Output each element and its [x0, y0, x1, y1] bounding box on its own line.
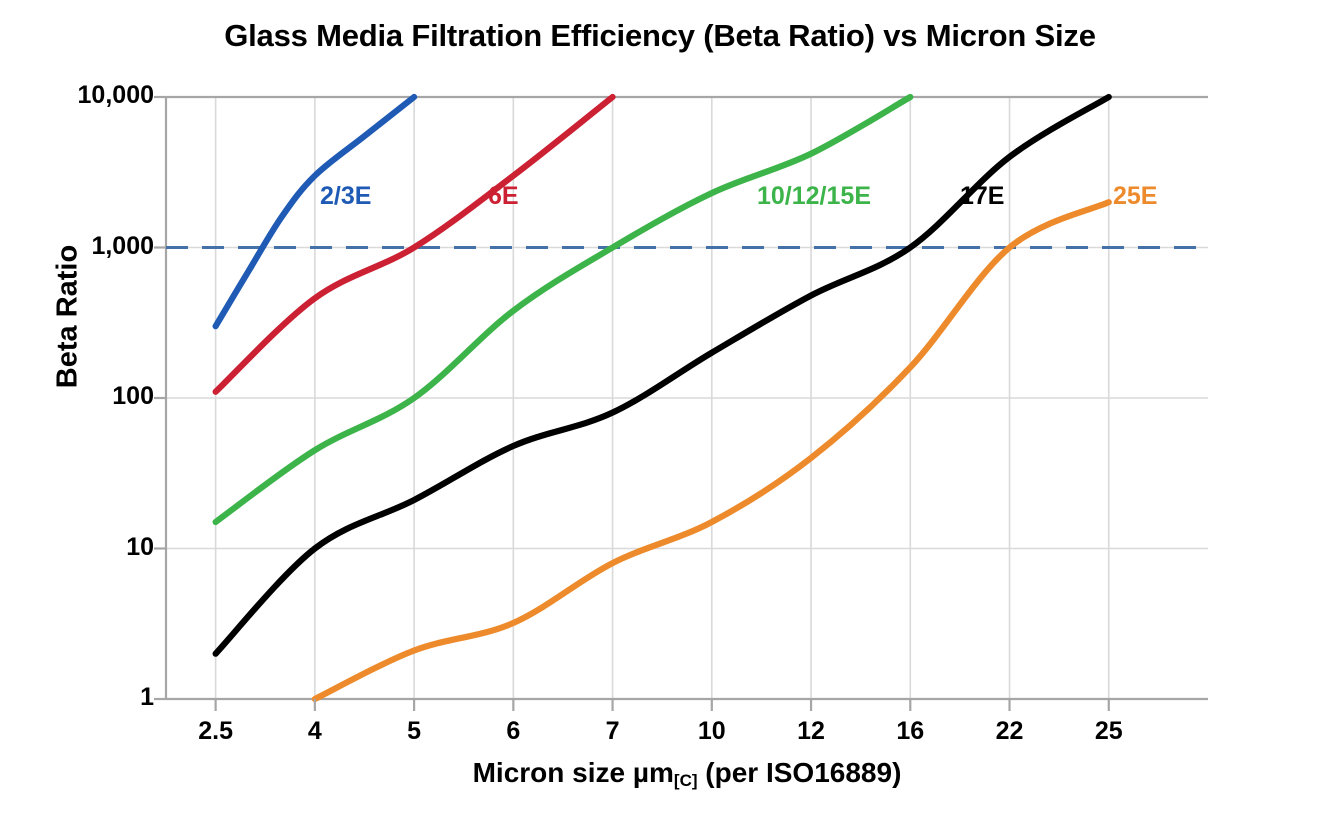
y-tick-label: 10,000	[14, 81, 154, 110]
chart-title: Glass Media Filtration Efficiency (Beta …	[0, 18, 1320, 54]
y-tick-label: 100	[14, 382, 154, 411]
x-tick-label: 2.5	[161, 717, 271, 746]
y-tick-label: 1	[14, 683, 154, 712]
x-axis-label-prefix: Micron size µm	[473, 757, 674, 788]
series-annotation-25E: 25E	[1113, 182, 1157, 211]
series-line-17E	[216, 97, 1109, 654]
x-tick-label: 12	[756, 717, 866, 746]
x-tick-label: 5	[359, 717, 469, 746]
series-annotation-10-12-15E: 10/12/15E	[757, 182, 871, 211]
y-tick-label: 1,000	[14, 232, 154, 261]
x-tick-label: 6	[458, 717, 568, 746]
x-axis-label-suffix: (per ISO16889)	[698, 757, 902, 788]
chart-container: Glass Media Filtration Efficiency (Beta …	[0, 0, 1320, 820]
x-axis-label: Micron size µm[C] (per ISO16889)	[166, 757, 1208, 791]
series-annotation-17E: 17E	[960, 182, 1004, 211]
x-tick-label: 10	[657, 717, 767, 746]
x-tick-label: 7	[558, 717, 668, 746]
x-tick-label: 16	[855, 717, 965, 746]
x-tick-label: 22	[955, 717, 1065, 746]
y-tick-label: 10	[14, 533, 154, 562]
x-axis-label-subscript: [C]	[674, 771, 698, 790]
series-annotation-2-3E: 2/3E	[320, 182, 371, 211]
x-tick-label: 4	[260, 717, 370, 746]
series-annotation-6E: 6E	[488, 182, 519, 211]
x-tick-label: 25	[1054, 717, 1164, 746]
